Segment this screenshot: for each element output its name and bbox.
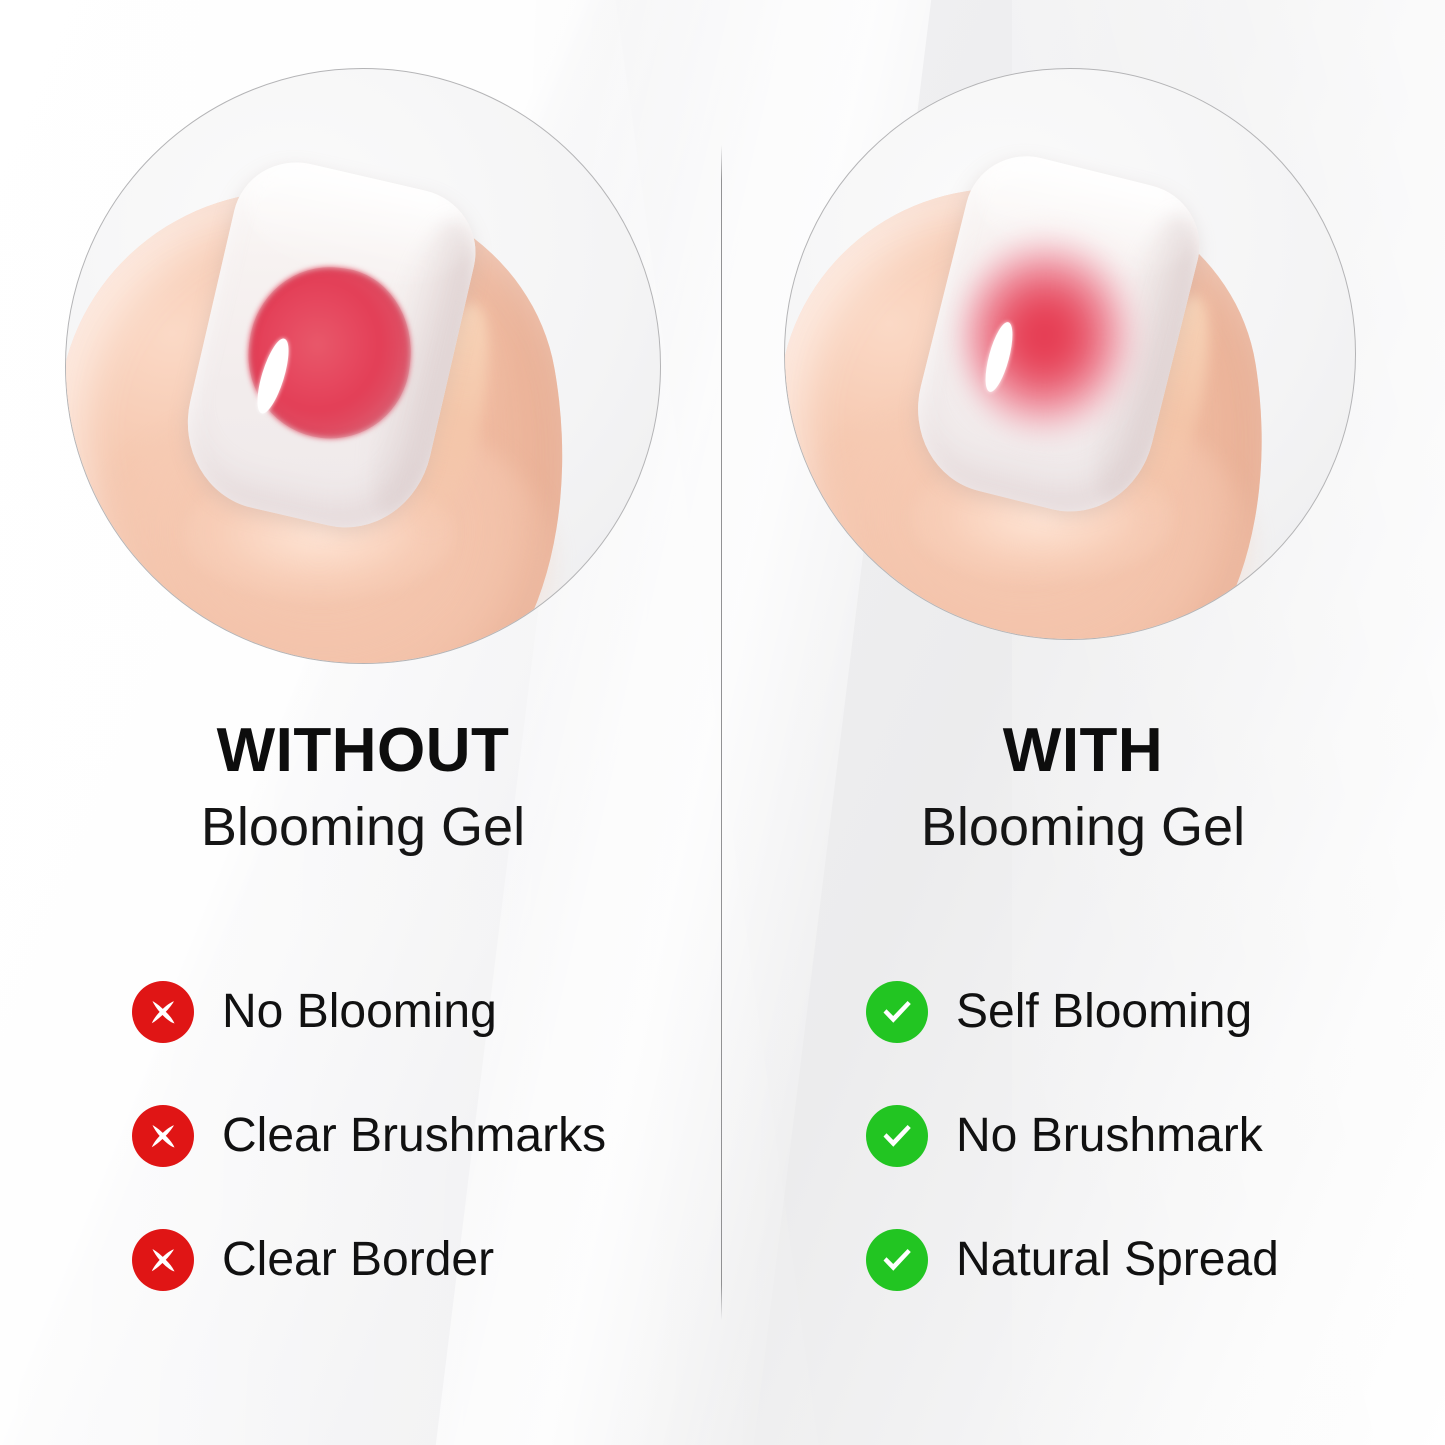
- feature-list-without: No Blooming Clear Brushmarks Clear Borde…: [132, 950, 692, 1322]
- list-item: Self Blooming: [866, 950, 1426, 1074]
- feature-label: Clear Border: [222, 1236, 494, 1284]
- feature-label: Self Blooming: [956, 988, 1252, 1036]
- heading-sub-with: Blooming Gel: [760, 800, 1406, 854]
- finger-illustration-with: [785, 69, 1355, 639]
- feature-list-with: Self Blooming No Brushmark Natural Sprea…: [866, 950, 1426, 1322]
- cross-icon: [132, 1105, 194, 1167]
- comparison-infographic: WITHOUT Blooming Gel WITH Blooming Gel N…: [0, 0, 1445, 1445]
- feature-label: Natural Spread: [956, 1236, 1279, 1284]
- column-heading-without: WITHOUT Blooming Gel: [40, 720, 686, 854]
- list-item: Natural Spread: [866, 1198, 1426, 1322]
- list-item: No Brushmark: [866, 1074, 1426, 1198]
- column-divider: [721, 145, 722, 1320]
- heading-sub-without: Blooming Gel: [40, 800, 686, 854]
- feature-label: No Brushmark: [956, 1112, 1263, 1160]
- photo-nail-without-blooming-gel: [65, 68, 661, 664]
- cross-icon: [132, 981, 194, 1043]
- heading-main-without: WITHOUT: [40, 720, 686, 782]
- list-item: Clear Brushmarks: [132, 1074, 692, 1198]
- check-icon: [866, 981, 928, 1043]
- list-item: No Blooming: [132, 950, 692, 1074]
- finger-illustration-without: [66, 69, 660, 663]
- feature-label: No Blooming: [222, 988, 497, 1036]
- list-item: Clear Border: [132, 1198, 692, 1322]
- feature-label: Clear Brushmarks: [222, 1112, 606, 1160]
- check-icon: [866, 1229, 928, 1291]
- column-heading-with: WITH Blooming Gel: [760, 720, 1406, 854]
- heading-main-with: WITH: [760, 720, 1406, 782]
- cross-icon: [132, 1229, 194, 1291]
- photo-nail-with-blooming-gel: [784, 68, 1356, 640]
- check-icon: [866, 1105, 928, 1167]
